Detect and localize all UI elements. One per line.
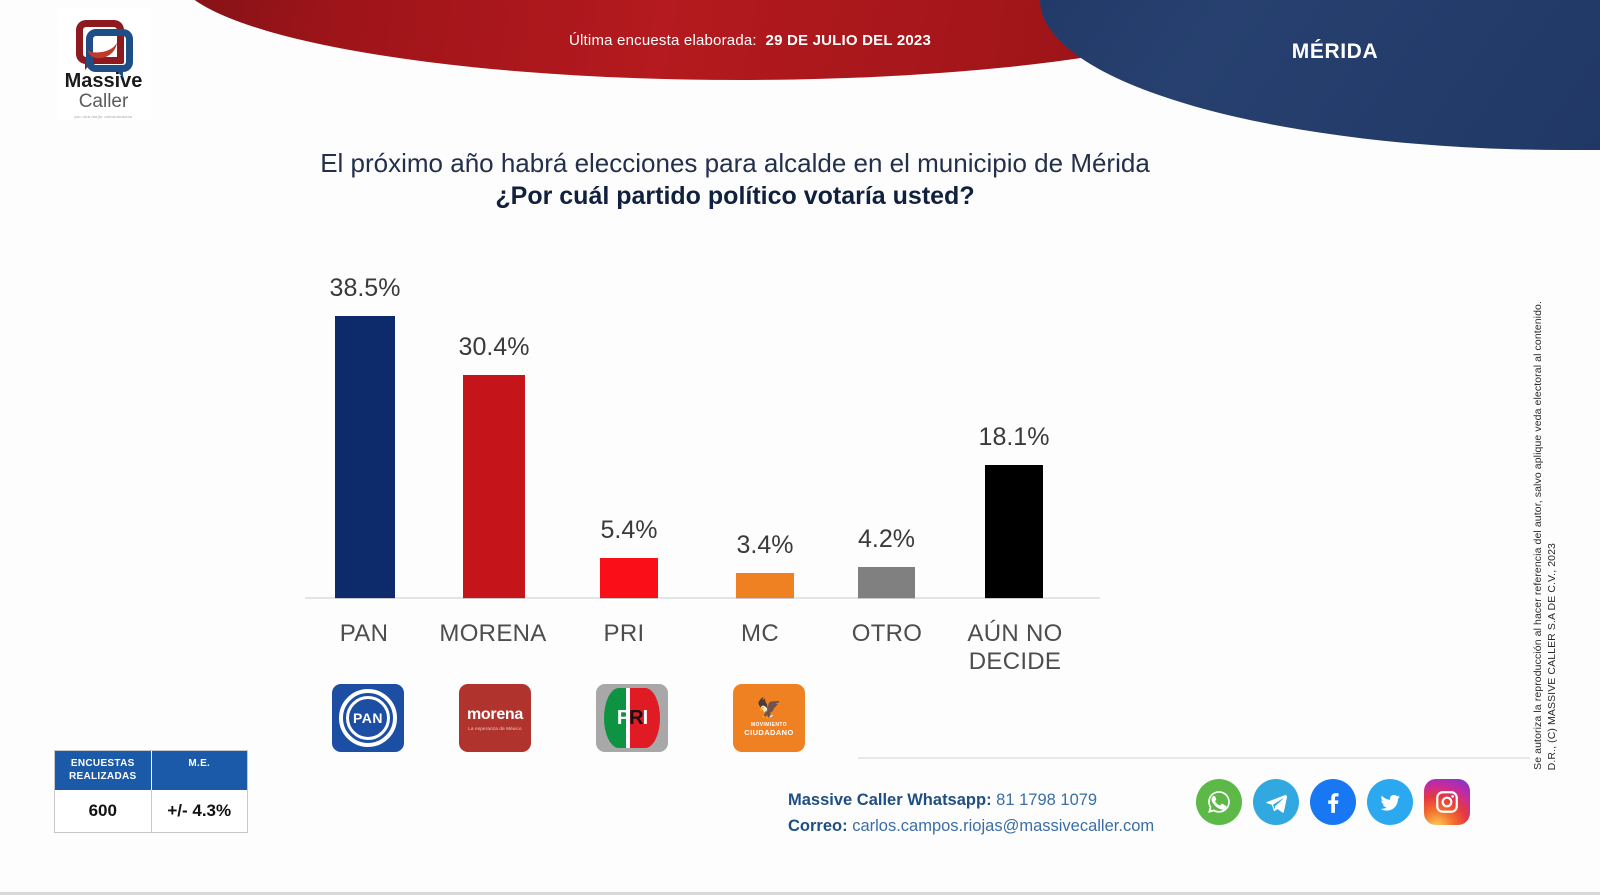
party-logo-pan: PAN: [332, 684, 404, 752]
bar-otro: [858, 567, 915, 598]
social-links: [1196, 779, 1470, 825]
telegram-icon[interactable]: [1253, 779, 1299, 825]
stats-header-margin: M.E.: [152, 751, 248, 790]
morena-tagline: La esperanza de México: [468, 726, 521, 731]
eagle-icon: 🦅: [757, 699, 782, 719]
survey-stats-table: ENCUESTASREALIZADAS M.E. 600 +/- 4.3%: [54, 750, 248, 833]
whatsapp-label: Massive Caller Whatsapp:: [788, 791, 992, 809]
whatsapp-icon[interactable]: [1196, 779, 1242, 825]
morena-label: morena: [467, 706, 523, 724]
category-label-aún-no-decide: AÚN NO DECIDE: [940, 620, 1090, 675]
contact-block: Massive Caller Whatsapp: 81 1798 1079 Co…: [788, 788, 1208, 839]
category-label-pan: PAN: [289, 620, 439, 648]
party-logo-mc: 🦅 MOVIMIENTO CIUDADANO: [733, 684, 805, 752]
bar-value-pan: 38.5%: [330, 274, 401, 303]
stats-header-sample: ENCUESTASREALIZADAS: [55, 751, 152, 790]
pan-label: PAN: [346, 696, 390, 740]
stats-sample-size: 600: [55, 790, 152, 832]
pri-letter-r: R: [629, 707, 642, 730]
stats-value-row: 600 +/- 4.3%: [55, 790, 247, 832]
bar-value-aún-no-decide: 18.1%: [979, 423, 1050, 452]
category-label-pri: PRI: [549, 620, 699, 648]
bar-pri: [600, 558, 658, 598]
bar-pan: [335, 316, 395, 598]
legal-line2: Se autoriza la reproducción al hacer ref…: [1532, 301, 1544, 770]
whatsapp-value: 81 1798 1079: [996, 791, 1097, 809]
stats-margin-error: +/- 4.3%: [152, 790, 248, 832]
poll-infographic-page: Última encuesta elaborada: 29 DE JULIO D…: [0, 0, 1600, 895]
pri-letter-i: I: [643, 707, 648, 730]
twitter-icon[interactable]: [1367, 779, 1413, 825]
pri-letter-p: P: [617, 707, 629, 730]
legal-notice: D.R., (C) MASSIVE CALLER S.A DE C.V., 20…: [1532, 170, 1558, 770]
email-row: Correo: carlos.campos.riojas@massivecall…: [788, 814, 1208, 840]
facebook-icon[interactable]: [1310, 779, 1356, 825]
email-value: carlos.campos.riojas@massivecaller.com: [852, 817, 1154, 835]
whatsapp-row: Massive Caller Whatsapp: 81 1798 1079: [788, 788, 1208, 814]
bar-aún-no-decide: [985, 465, 1043, 598]
party-logo-pri: P R I: [596, 684, 668, 752]
bar-value-otro: 4.2%: [858, 525, 915, 554]
bar-morena: [463, 375, 525, 598]
stats-header-row: ENCUESTASREALIZADAS M.E.: [55, 751, 247, 790]
legal-line1: D.R., (C) MASSIVE CALLER S.A DE C.V., 20…: [1546, 543, 1558, 770]
footer-divider: [858, 757, 1530, 759]
mc-line2: CIUDADANO: [744, 728, 793, 737]
chart-baseline: [305, 597, 1100, 599]
bar-value-mc: 3.4%: [737, 531, 794, 560]
category-label-morena: MORENA: [418, 620, 568, 648]
email-label: Correo:: [788, 817, 848, 835]
bar-value-pri: 5.4%: [601, 516, 658, 545]
bar-mc: [736, 573, 794, 598]
party-logo-morena: morena La esperanza de México: [459, 684, 531, 752]
bar-value-morena: 30.4%: [459, 333, 530, 362]
instagram-icon[interactable]: [1424, 779, 1470, 825]
